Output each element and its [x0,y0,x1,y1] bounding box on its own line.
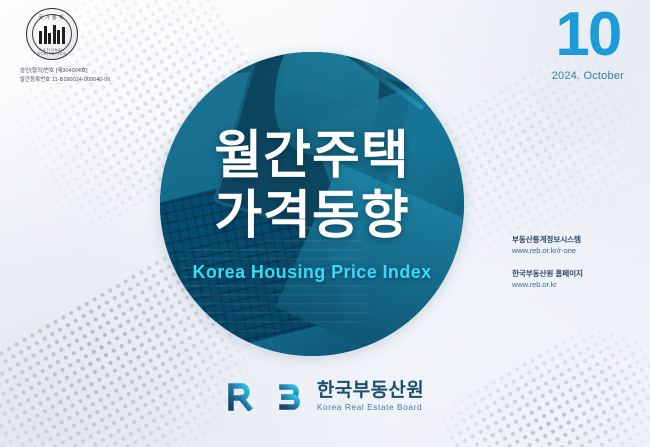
issue-date: 2024. October [552,70,624,82]
reb-logo-icon [226,381,306,411]
report-cover: 국가통계 NATIONAL STATISTICS 승인(협의)번호 [제3040… [0,0,650,447]
report-title-line-2: 가격동향 [214,186,409,246]
website-links-block: 부동산통계정보시스템 www.reb.or.kr/r-one 한국부동산원 홈페… [512,234,642,302]
seal-bottom-text: NATIONAL STATISTICS [27,48,77,56]
organization-name-en: Korea Real Estate Board [317,403,424,411]
link-url-r-one[interactable]: www.reb.or.kr/r-one [512,245,642,256]
organization-lockup: 한국부동산원 Korea Real Estate Board [0,381,650,411]
seal-bar-glyph [39,24,65,44]
national-statistics-seal-icon: 국가통계 NATIONAL STATISTICS [26,8,78,60]
organization-name-ko: 한국부동산원 [317,381,424,400]
hero-text-block: 월간주택 가격동향 Korea Housing Price Index [160,52,464,356]
seal-top-text: 국가통계 [27,14,77,21]
organization-name-block: 한국부동산원 Korea Real Estate Board [317,381,424,411]
link-group-homepage: 한국부동산원 홈페이지 www.reb.or.kr [512,268,642,290]
hero-circle: 월간주택 가격동향 Korea Housing Price Index [160,52,464,356]
link-group-r-one: 부동산통계정보시스템 www.reb.or.kr/r-one [512,234,642,256]
report-subtitle: Korea Housing Price Index [192,262,431,283]
link-url-homepage[interactable]: www.reb.or.kr [512,279,642,290]
link-title-homepage: 한국부동산원 홈페이지 [512,268,642,279]
issue-number: 10 [552,6,624,64]
report-title-line-1: 월간주택 [214,126,409,186]
issue-block: 10 2024. October [552,6,624,82]
halftone-pattern-bottom-right [433,298,650,447]
link-title-r-one: 부동산통계정보시스템 [512,234,642,245]
